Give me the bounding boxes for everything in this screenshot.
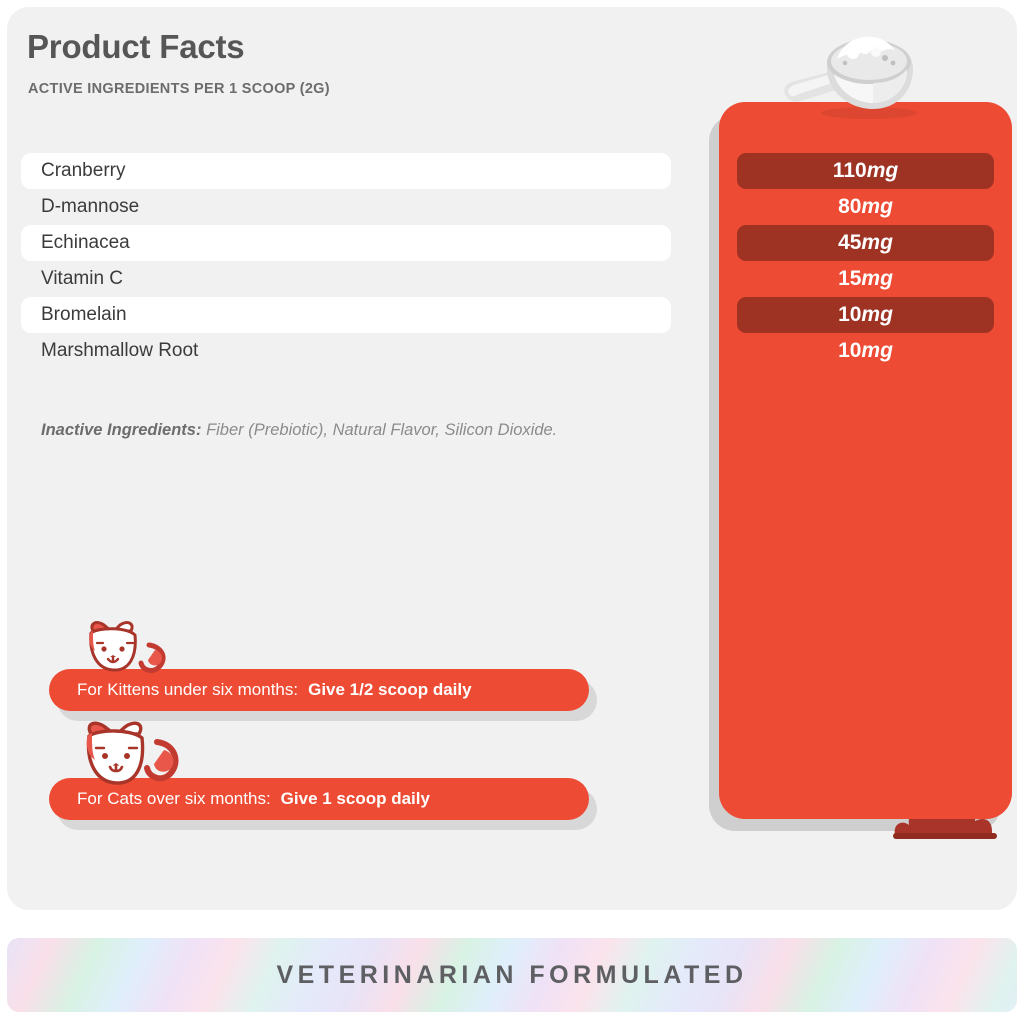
- dose-unit: mg: [861, 267, 893, 291]
- dosage-value: Give 1 scoop daily: [281, 789, 430, 809]
- dose-list: 110mg 80mg 45mg 15mg 10mg 10mg: [719, 153, 1012, 369]
- list-item: Bromelain: [21, 297, 671, 333]
- dose-row: 45mg: [737, 225, 994, 261]
- list-item: Echinacea: [21, 225, 671, 261]
- inactive-ingredients-text: Fiber (Prebiotic), Natural Flavor, Silic…: [206, 421, 557, 439]
- cat-icon: [71, 720, 186, 790]
- dose-amount: 80: [838, 195, 861, 219]
- ingredient-list: Cranberry D-mannose Echinacea Vitamin C …: [21, 153, 671, 369]
- dose-row: 80mg: [737, 189, 994, 225]
- dosage-value: Give 1/2 scoop daily: [308, 680, 471, 700]
- ingredient-name: Cranberry: [41, 160, 125, 182]
- dose-amount: 15: [838, 267, 861, 291]
- dose-row: 15mg: [737, 261, 994, 297]
- ingredient-name: Vitamin C: [41, 268, 123, 290]
- dose-row: 110mg: [737, 153, 994, 189]
- inactive-ingredients-label: Inactive Ingredients:: [41, 421, 201, 439]
- inactive-ingredients: Inactive Ingredients: Fiber (Prebiotic),…: [41, 421, 557, 440]
- kitten-icon: [71, 619, 171, 681]
- dose-unit: mg: [861, 231, 893, 255]
- dose-amount: 110: [833, 159, 867, 183]
- ingredient-name: D-mannose: [41, 196, 139, 218]
- dose-row: 10mg: [737, 333, 994, 369]
- dose-unit: mg: [861, 195, 893, 219]
- dose-unit: mg: [861, 339, 893, 363]
- page-subtitle: ACTIVE INGREDIENTS PER 1 SCOOP (2G): [28, 81, 330, 97]
- dose-amount: 45: [838, 231, 861, 255]
- dose-amount: 10: [838, 303, 861, 327]
- dose-unit: mg: [867, 159, 899, 183]
- ingredient-name: Echinacea: [41, 232, 130, 254]
- ingredient-name: Marshmallow Root: [41, 340, 198, 362]
- list-item: Vitamin C: [21, 261, 671, 297]
- dose-panel: 110mg 80mg 45mg 15mg 10mg 10mg: [719, 102, 1012, 819]
- veterinarian-formulated-banner: VETERINARIAN FORMULATED: [7, 938, 1017, 1012]
- list-item: Cranberry: [21, 153, 671, 189]
- dose-unit: mg: [861, 303, 893, 327]
- dosage-label: For Kittens under six months:: [77, 680, 298, 700]
- banner-text: VETERINARIAN FORMULATED: [276, 961, 747, 990]
- ingredient-name: Bromelain: [41, 304, 127, 326]
- dose-row: 10mg: [737, 297, 994, 333]
- list-item: Marshmallow Root: [21, 333, 671, 369]
- dose-amount: 10: [838, 339, 861, 363]
- product-facts-card: Product Facts ACTIVE INGREDIENTS PER 1 S…: [7, 7, 1017, 910]
- page-title: Product Facts: [27, 28, 244, 66]
- measuring-scoop-icon: [777, 25, 937, 120]
- list-item: D-mannose: [21, 189, 671, 225]
- dosage-label: For Cats over six months:: [77, 789, 271, 809]
